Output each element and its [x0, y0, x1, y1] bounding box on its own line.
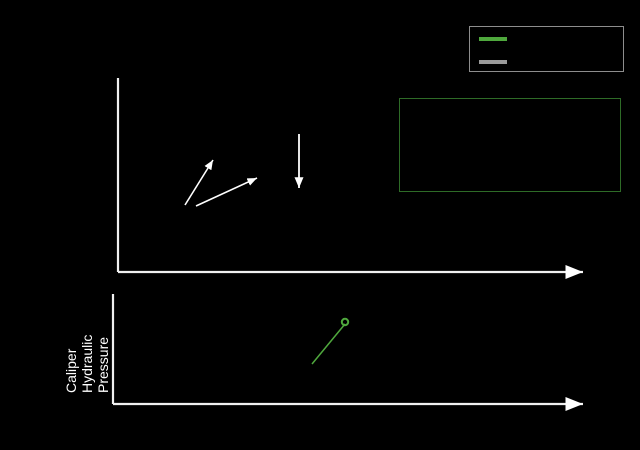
- lower-chart-annotation-leader: [312, 319, 348, 364]
- slide-canvas: Caliper Hydraulic Pressure: [0, 0, 640, 450]
- lower-y-axis-label-line3: Pressure: [95, 337, 111, 393]
- upper-chart-annotation-leaders: [185, 134, 299, 206]
- upper-chart-axes: [118, 78, 583, 272]
- lower-chart-axes: [113, 294, 583, 404]
- lower-y-axis-label-line1: Caliper: [63, 349, 79, 393]
- lower-y-axis-label-line2: Hydraulic: [79, 335, 95, 393]
